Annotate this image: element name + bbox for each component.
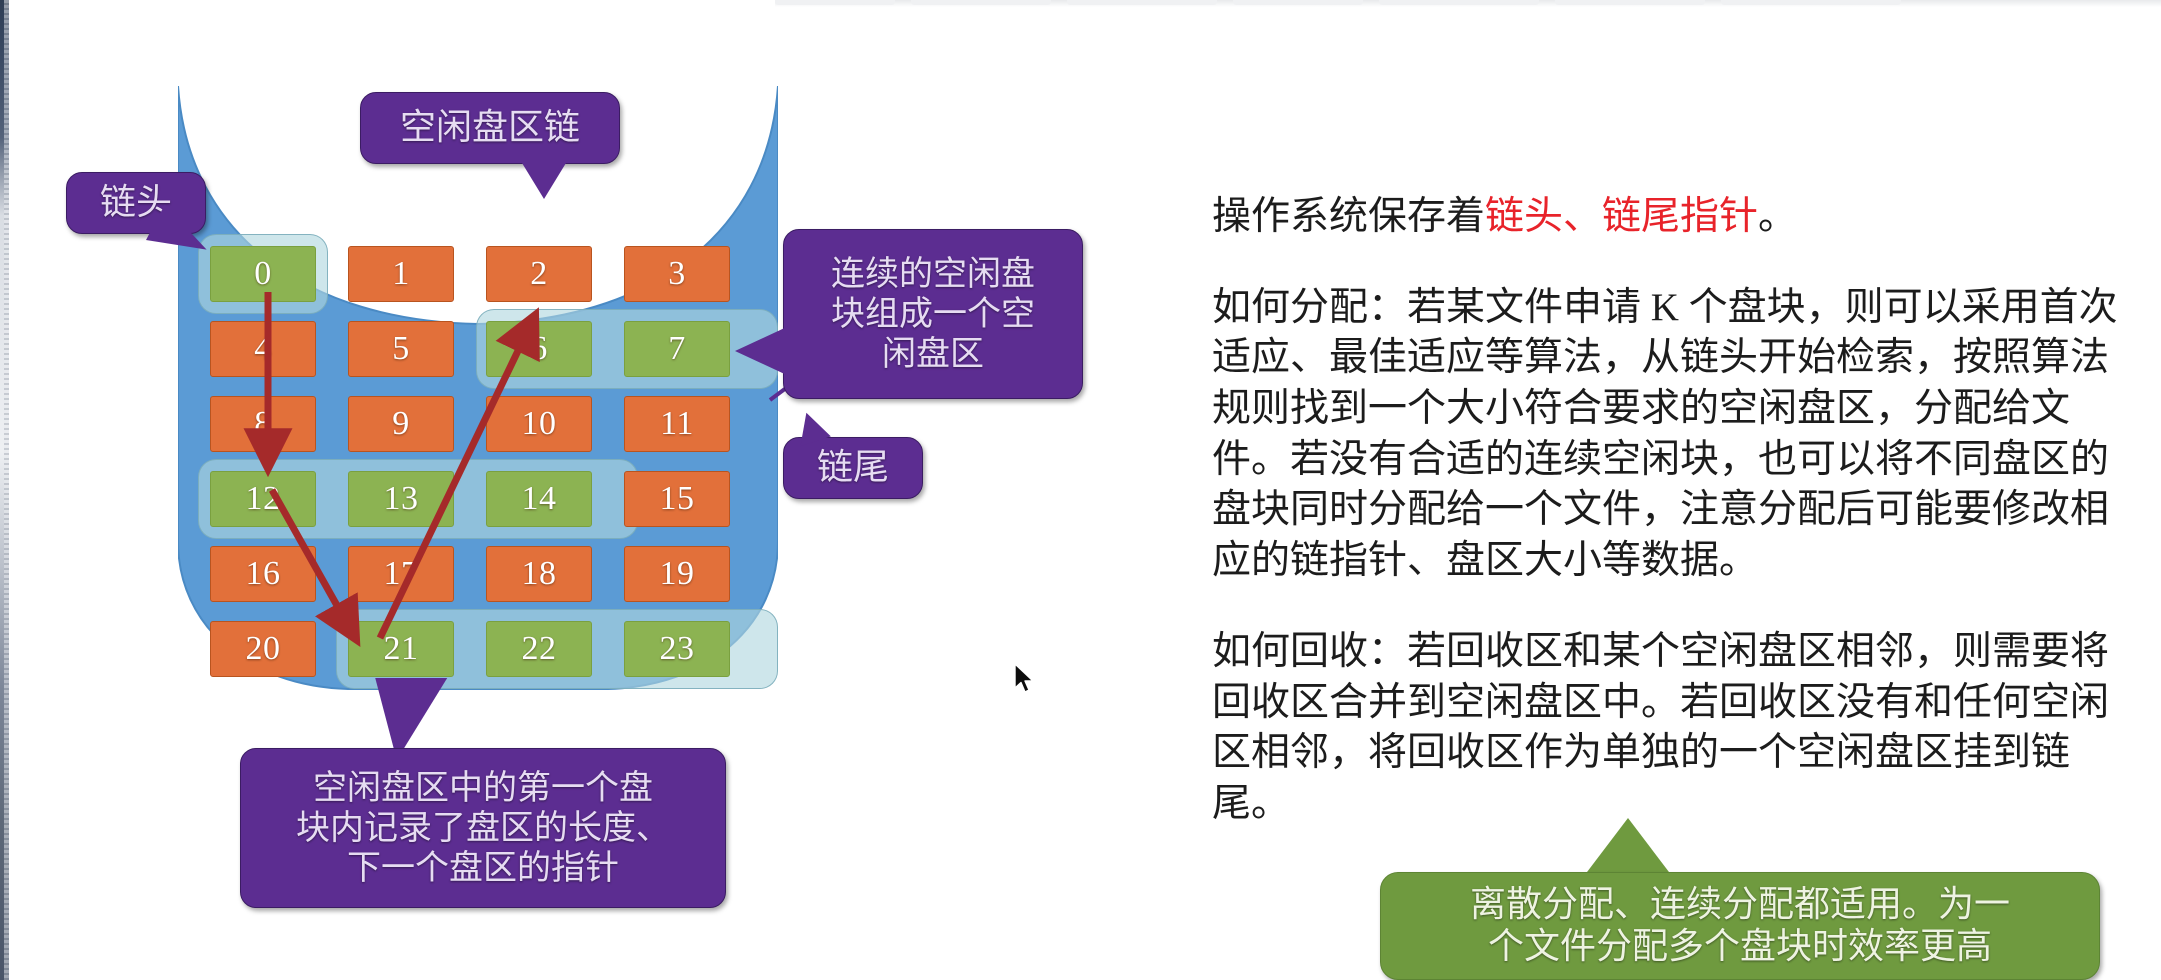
disk-block-label: 11 — [660, 407, 694, 441]
callout-extent-first-block-label: 空闲盘区中的第一个盘 块内记录了盘区的长度、 下一个盘区的指针 — [296, 768, 670, 888]
callout-title[interactable]: 空闲盘区链 — [360, 92, 620, 164]
explanation-p1-prefix: 操作系统保存着 — [1212, 195, 1485, 238]
disk-block-5[interactable]: 5 — [348, 321, 454, 377]
disk-block-20[interactable]: 20 — [210, 621, 316, 677]
disk-block-label: 0 — [254, 257, 272, 291]
callout-applicability-note-label: 离散分配、连续分配都适用。为一 个文件分配多个盘块时效率更高 — [1470, 884, 2010, 969]
mouse-pointer-cursor — [1013, 663, 1037, 697]
disk-block-label: 19 — [660, 557, 695, 591]
disk-block-12[interactable]: 12 — [210, 471, 316, 527]
top-toolbar-sliver — [775, 0, 2161, 7]
explanation-text-column: 操作系统保存着链头、链尾指针。 如何分配：若某文件申请 K 个盘块，则可以采用首… — [1212, 192, 2132, 870]
window-left-edge-strip — [0, 0, 9, 980]
callout-applicability-note[interactable]: 离散分配、连续分配都适用。为一 个文件分配多个盘块时效率更高 — [1380, 872, 2100, 980]
disk-block-14[interactable]: 14 — [486, 471, 592, 527]
disk-block-label: 7 — [668, 332, 686, 366]
callout-title-tail — [522, 163, 566, 199]
explanation-paragraph-3: 如何回收：若回收区和某个空闲盘区相邻，则需要将回收区合并到空闲盘区中。若回收区没… — [1212, 627, 2132, 830]
disk-block-grid: 01234567891011121314151617181920212223 — [210, 246, 760, 666]
disk-block-13[interactable]: 13 — [348, 471, 454, 527]
disk-block-label: 2 — [530, 257, 548, 291]
disk-block-label: 22 — [522, 632, 557, 666]
disk-block-17[interactable]: 17 — [348, 546, 454, 602]
disk-block-9[interactable]: 9 — [348, 396, 454, 452]
disk-block-label: 13 — [384, 482, 419, 516]
disk-block-0[interactable]: 0 — [210, 246, 316, 302]
disk-block-label: 16 — [246, 557, 281, 591]
disk-block-label: 23 — [660, 632, 695, 666]
disk-block-label: 8 — [254, 407, 272, 441]
disk-block-2[interactable]: 2 — [486, 246, 592, 302]
disk-block-label: 15 — [660, 482, 695, 516]
disk-block-label: 1 — [392, 257, 410, 291]
disk-block-11[interactable]: 11 — [624, 396, 730, 452]
disk-block-22[interactable]: 22 — [486, 621, 592, 677]
disk-block-10[interactable]: 10 — [486, 396, 592, 452]
disk-block-16[interactable]: 16 — [210, 546, 316, 602]
explanation-paragraph-1: 操作系统保存着链头、链尾指针。 — [1212, 192, 2132, 243]
disk-block-label: 6 — [530, 332, 548, 366]
disk-block-label: 12 — [246, 482, 281, 516]
disk-block-label: 3 — [668, 257, 686, 291]
disk-block-label: 14 — [522, 482, 557, 516]
disk-block-6[interactable]: 6 — [486, 321, 592, 377]
disk-block-4[interactable]: 4 — [210, 321, 316, 377]
disk-block-8[interactable]: 8 — [210, 396, 316, 452]
disk-block-15[interactable]: 15 — [624, 471, 730, 527]
callout-contiguous-extent-label: 连续的空闲盘 块组成一个空 闲盘区 — [831, 254, 1035, 374]
disk-block-23[interactable]: 23 — [624, 621, 730, 677]
explanation-p1-suffix: 。 — [1758, 195, 1797, 238]
disk-block-label: 17 — [384, 557, 419, 591]
explanation-paragraph-2: 如何分配：若某文件申请 K 个盘块，则可以采用首次适应、最佳适应等算法，从链头开… — [1212, 283, 2132, 587]
callout-chain-tail[interactable]: 链尾 — [783, 437, 923, 499]
callout-contiguous-extent[interactable]: 连续的空闲盘 块组成一个空 闲盘区 — [783, 229, 1083, 399]
disk-block-18[interactable]: 18 — [486, 546, 592, 602]
disk-block-7[interactable]: 7 — [624, 321, 730, 377]
disk-block-label: 18 — [522, 557, 557, 591]
disk-block-label: 5 — [392, 332, 410, 366]
disk-block-label: 10 — [522, 407, 557, 441]
disk-block-label: 4 — [254, 332, 272, 366]
callout-extent-first-block[interactable]: 空闲盘区中的第一个盘 块内记录了盘区的长度、 下一个盘区的指针 — [240, 748, 726, 908]
disk-block-19[interactable]: 19 — [624, 546, 730, 602]
callout-title-label: 空闲盘区链 — [400, 107, 580, 149]
callout-chain-tail-label: 链尾 — [817, 447, 889, 489]
disk-block-label: 20 — [246, 632, 281, 666]
window-scrollbar-texture[interactable] — [4, 0, 9, 980]
disk-block-label: 9 — [392, 407, 410, 441]
disk-block-3[interactable]: 3 — [624, 246, 730, 302]
explanation-p1-highlight: 链头、链尾指针 — [1485, 195, 1758, 238]
disk-block-label: 21 — [384, 632, 419, 666]
callout-contiguous-extent-tail — [735, 325, 791, 377]
disk-block-1[interactable]: 1 — [348, 246, 454, 302]
disk-block-21[interactable]: 21 — [348, 621, 454, 677]
